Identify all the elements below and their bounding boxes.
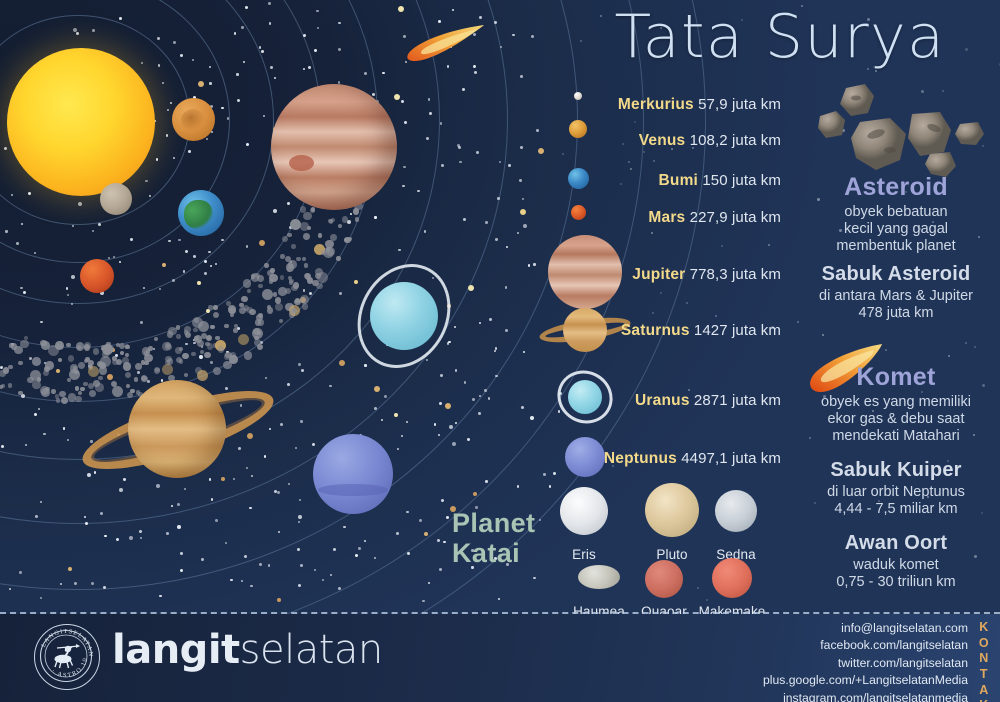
star	[210, 361, 213, 364]
section-komet: Komet obyek es yang memilikiekor gas & d…	[800, 363, 992, 445]
star	[280, 423, 283, 426]
asteroid-belt-dot	[273, 292, 278, 297]
star	[156, 484, 160, 488]
star	[159, 595, 161, 597]
star	[116, 538, 119, 541]
planet-name: Saturnus	[621, 322, 690, 339]
star	[98, 223, 101, 226]
star	[28, 192, 31, 195]
asteroid-belt-dot	[185, 332, 192, 339]
sagittarius-figure	[55, 644, 81, 668]
star	[4, 147, 7, 150]
dwarf-planet-disc-quaoar	[645, 560, 683, 598]
brand-thin: selatan	[240, 627, 383, 673]
asteroid-belt-dot	[40, 386, 49, 395]
star	[234, 32, 236, 34]
star	[455, 369, 457, 371]
asteroid-belt-dot	[233, 328, 238, 333]
planet-distance: 4497,1 juta km	[677, 450, 781, 467]
kontak-letter: K	[974, 698, 994, 702]
star	[130, 238, 133, 241]
star	[885, 349, 887, 351]
asteroid-belt-dot	[18, 391, 23, 396]
kontak-letter: T	[974, 667, 994, 683]
dwarf-planet-disc-eris	[560, 487, 608, 535]
asteroid-belt-dot	[130, 389, 135, 394]
contact-line[interactable]: instagram.com/langitselatanmedia	[763, 690, 968, 702]
star	[768, 244, 770, 246]
dwarf-planet-disc-sedna	[715, 490, 757, 532]
asteroid-belt-dot	[243, 279, 252, 288]
asteroid-belt-dot	[213, 367, 222, 376]
planet-distance: 57,9 juta km	[694, 96, 781, 113]
asteroid-belt-dot	[154, 367, 161, 374]
star	[549, 485, 551, 487]
asteroid-belt-dot	[8, 383, 13, 388]
dwarf-planet-disc-makemake	[712, 558, 752, 598]
star	[333, 548, 336, 551]
asteroid-belt-dot	[201, 333, 208, 340]
star	[519, 179, 522, 182]
asteroid-belt-dot	[197, 340, 204, 347]
star	[137, 371, 140, 374]
asteroid-belt-dot	[80, 387, 85, 392]
star	[697, 587, 699, 589]
planet-distance: 108,2 juta km	[685, 132, 781, 149]
star	[215, 263, 217, 265]
asteroid-belt-dot	[99, 366, 108, 375]
star	[517, 485, 519, 487]
planet-distance: 1427 juta km	[690, 322, 781, 339]
star	[94, 471, 96, 473]
asteroid-belt-dot	[165, 356, 172, 363]
star	[298, 363, 301, 366]
star	[298, 515, 302, 519]
asteroid-belt-dot	[93, 380, 100, 387]
asteroid-belt-dot	[269, 279, 274, 284]
asteroid-belt-dot	[59, 391, 66, 398]
asteroid-belt-dot	[168, 327, 177, 336]
star	[374, 216, 376, 218]
star	[417, 190, 419, 192]
star	[209, 478, 211, 480]
asteroid-belt-dot	[20, 340, 29, 349]
planet-distance: 778,3 juta km	[685, 266, 781, 283]
asteroid-belt-dot	[70, 364, 79, 373]
asteroid-belt-dot	[344, 238, 349, 243]
star	[259, 240, 265, 246]
star	[653, 160, 655, 162]
planet-name: Bumi	[659, 172, 699, 189]
section-sabuk-kuiper: Sabuk Kuiper di luar orbit Neptunus4,44 …	[800, 459, 992, 518]
brand-bold: langit	[112, 627, 240, 673]
star	[211, 498, 213, 500]
star	[489, 318, 492, 321]
star	[497, 197, 499, 199]
star	[156, 158, 158, 160]
star	[494, 21, 497, 24]
star	[67, 439, 69, 441]
star	[269, 428, 271, 430]
kontak-letter: K	[974, 620, 994, 636]
planet-row-bumi: Bumi 150 juta km	[659, 172, 781, 190]
star	[401, 100, 404, 103]
asteroid-belt-dot	[302, 303, 309, 310]
planet-row-merkurius: Merkurius 57,9 juta km	[618, 96, 781, 114]
awan-oort-heading: Awan Oort	[800, 532, 992, 555]
venus-illustration	[172, 98, 215, 141]
star	[74, 582, 77, 585]
star	[295, 447, 297, 449]
asteroid-belt-dot	[89, 390, 96, 397]
planet-name: Merkurius	[618, 96, 694, 113]
contact-line[interactable]: facebook.com/langitselatan	[763, 637, 968, 654]
asteroid-belt-dot	[255, 273, 260, 278]
star	[113, 256, 115, 258]
asteroid-belt-dot	[98, 376, 103, 381]
star	[660, 292, 662, 294]
asteroid-belt-dot	[208, 305, 213, 310]
neptune-illustration	[313, 434, 393, 514]
asteroid-belt-dot	[239, 303, 244, 308]
star	[422, 600, 424, 602]
star	[34, 413, 37, 416]
star	[404, 121, 407, 124]
earth-illustration	[178, 190, 224, 236]
langitselatan-logo[interactable]: LANGITSELATAN · ASTRO 101 ·	[34, 624, 100, 690]
star	[303, 289, 305, 291]
asteroid-belt-dot	[112, 386, 123, 397]
star	[797, 321, 799, 323]
star	[265, 377, 267, 379]
planet-name: Jupiter	[632, 266, 685, 283]
star	[241, 26, 244, 29]
star	[185, 250, 188, 253]
star	[145, 180, 147, 182]
asteroid-belt-dot	[239, 307, 246, 314]
star	[197, 281, 201, 285]
footer-divider	[0, 612, 1000, 614]
asteroid-belt-dot	[246, 307, 253, 314]
star	[447, 65, 449, 67]
star	[355, 554, 358, 557]
asteroid-belt-dot	[125, 344, 130, 349]
planet-name: Mars	[648, 209, 685, 226]
asteroid-belt-dot	[291, 285, 298, 292]
star	[259, 563, 262, 566]
poster-canvas: Tata Surya Merkurius 57,9 juta kmVenus 1…	[0, 0, 1000, 702]
asteroid-belt-dot	[289, 279, 294, 284]
star	[495, 375, 497, 377]
star	[965, 342, 967, 344]
star	[162, 263, 166, 267]
asteroid-belt-dot	[256, 314, 263, 321]
star	[364, 364, 366, 366]
brand-wordmark: langitselatan	[112, 630, 383, 670]
star	[143, 287, 145, 289]
uranus-scale-disc	[568, 380, 602, 414]
asteroid-belt-dot	[280, 254, 285, 259]
asteroid-belt-dot	[210, 325, 215, 330]
asteroid-body: obyek bebatuankecil yang gagalmembentuk …	[800, 204, 992, 255]
star	[440, 122, 442, 124]
star	[652, 312, 654, 314]
star	[247, 433, 253, 439]
planet-distance: 2871 juta km	[690, 392, 781, 409]
star	[634, 121, 636, 123]
planet-row-jupiter: Jupiter 778,3 juta km	[632, 266, 781, 284]
asteroid-belt-dot	[77, 345, 82, 350]
star	[299, 499, 301, 501]
star	[236, 73, 238, 75]
star	[20, 287, 22, 289]
asteroid-belt-dot	[296, 257, 301, 262]
asteroid-belt-dot	[303, 233, 310, 240]
asteroid-belt-dot	[223, 361, 232, 370]
star	[478, 412, 481, 415]
star	[303, 34, 306, 37]
star	[249, 507, 251, 509]
asteroid-belt-dot	[93, 348, 100, 355]
star	[250, 585, 252, 587]
star	[210, 265, 212, 267]
asteroid-belt-dot	[66, 343, 71, 348]
star	[424, 532, 428, 536]
asteroid-belt-dot	[75, 396, 82, 403]
star	[180, 54, 183, 57]
star	[35, 515, 38, 518]
star	[19, 571, 22, 574]
contact-list: info@langitselatan.comfacebook.com/langi…	[763, 620, 968, 702]
asteroid-belt-dot	[182, 353, 189, 360]
star	[40, 321, 42, 323]
star	[630, 168, 632, 170]
star	[822, 334, 824, 336]
asteroid-belt-dot	[162, 342, 171, 351]
star	[706, 599, 708, 601]
asteroid-belt-dot	[134, 377, 139, 382]
contact-line[interactable]: plus.google.com/+LangitselatanMedia	[763, 672, 968, 689]
asteroid-belt-dot	[213, 305, 218, 310]
star	[473, 492, 477, 496]
asteroid-belt-dot	[45, 361, 54, 370]
star	[543, 473, 546, 476]
star	[43, 433, 45, 435]
star	[441, 499, 444, 502]
asteroid-belt-dot	[9, 343, 14, 348]
star	[66, 287, 68, 289]
sun-illustration	[7, 48, 155, 196]
comet-illustration	[404, 22, 486, 62]
asteroid-belt-dot	[254, 339, 261, 346]
asteroid-belt-dot	[191, 352, 196, 357]
planet-distance: 150 juta km	[698, 172, 781, 189]
asteroid-belt-dot	[290, 219, 301, 230]
star	[498, 598, 500, 600]
asteroid-belt-dot	[68, 355, 75, 362]
star	[443, 541, 445, 543]
asteroid-belt-dot	[321, 250, 326, 255]
star	[273, 209, 277, 213]
star	[107, 374, 113, 380]
star	[948, 355, 950, 357]
star	[264, 455, 266, 457]
asteroid-belt-dot	[56, 398, 61, 403]
asteroid-belt-dot	[61, 397, 68, 404]
star	[462, 88, 465, 91]
star	[458, 146, 461, 149]
asteroid-belt-dot	[136, 390, 141, 395]
star	[300, 564, 303, 567]
asteroid-belt-dot	[304, 263, 309, 268]
mercury-scale-disc	[574, 92, 582, 100]
asteroid-belt-dot	[342, 216, 349, 223]
asteroid-belt-dot	[88, 366, 99, 377]
star	[172, 279, 175, 282]
asteroid-belt-dot	[270, 268, 275, 273]
asteroid-belt-dot	[264, 263, 269, 268]
asteroid-belt-dot	[258, 284, 263, 289]
star	[184, 488, 186, 490]
star	[192, 59, 194, 61]
planet-row-uranus: Uranus 2871 juta km	[635, 392, 781, 410]
star	[364, 72, 367, 75]
star	[520, 75, 523, 78]
star	[688, 389, 690, 391]
star	[434, 423, 436, 425]
star	[208, 251, 210, 253]
star	[5, 230, 7, 232]
star	[168, 240, 170, 242]
star	[180, 569, 183, 572]
planet-katai-line1: Planet	[452, 508, 562, 538]
asteroid-belt-dot	[291, 244, 296, 249]
star	[91, 582, 94, 585]
star	[485, 221, 487, 223]
star	[520, 146, 523, 149]
sabuk-asteroid-body: di antara Mars & Jupiter478 juta km	[800, 288, 992, 322]
sabuk-kuiper-heading: Sabuk Kuiper	[800, 459, 992, 482]
asteroid-belt-dot	[267, 307, 274, 314]
page-title: Tata Surya	[565, 6, 995, 69]
komet-body: obyek es yang memilikiekor gas & debu sa…	[800, 394, 992, 445]
star	[314, 49, 317, 52]
star	[277, 491, 280, 494]
star	[562, 153, 564, 155]
planet-name: Venus	[639, 132, 686, 149]
star	[92, 29, 94, 31]
star	[221, 239, 223, 241]
star	[536, 129, 539, 132]
asteroid-belt-dot	[51, 389, 56, 394]
star	[227, 117, 229, 119]
star	[398, 249, 400, 251]
star	[16, 242, 19, 245]
star	[209, 82, 211, 84]
star	[533, 577, 535, 579]
asteroid-belt-dot	[311, 207, 316, 212]
kontak-letter: N	[974, 651, 994, 667]
earth-scale-disc	[568, 168, 589, 189]
asteroid-cluster-illustration	[818, 82, 996, 178]
star	[447, 342, 449, 344]
asteroid-belt-dot	[305, 273, 312, 280]
asteroid-belt-dot	[146, 349, 151, 354]
star	[140, 321, 143, 324]
asteroid-belt-dot	[32, 357, 41, 366]
star	[495, 238, 498, 241]
star	[316, 10, 318, 12]
star	[403, 166, 405, 168]
planet-row-mars: Mars 227,9 juta km	[648, 209, 781, 227]
asteroid-heading: Asteroid	[800, 173, 992, 202]
star	[558, 410, 560, 412]
kontak-letter: A	[974, 683, 994, 699]
star	[90, 440, 92, 442]
jupiter-scale-disc	[548, 235, 622, 309]
section-awan-oort: Awan Oort waduk komet0,75 - 30 triliun k…	[800, 532, 992, 591]
star	[512, 34, 514, 36]
star	[533, 263, 535, 265]
star	[372, 93, 375, 96]
star	[339, 360, 345, 366]
asteroid-belt-dot	[316, 283, 323, 290]
planet-row-neptunus: Neptunus 4497,1 juta km	[604, 450, 781, 468]
contact-line[interactable]: twitter.com/langitselatan	[763, 655, 968, 672]
mars-scale-disc	[571, 205, 586, 220]
section-asteroid: Asteroid obyek bebatuankecil yang gagalm…	[800, 173, 992, 255]
star	[241, 580, 243, 582]
planet-name: Neptunus	[604, 450, 677, 467]
asteroid-belt-dot	[204, 352, 211, 359]
star	[157, 37, 160, 40]
dwarf-planet-disc-haumea	[578, 565, 620, 589]
star	[419, 519, 422, 522]
planet-name: Uranus	[635, 392, 690, 409]
star	[715, 315, 717, 317]
asteroid-belt-dot	[3, 367, 10, 374]
neptune-scale-disc	[565, 437, 605, 477]
star	[467, 438, 470, 441]
star	[183, 270, 185, 272]
saturn-scale-disc	[563, 308, 607, 352]
sabuk-asteroid-heading: Sabuk Asteroid	[800, 263, 992, 286]
star	[56, 369, 60, 373]
star	[243, 61, 245, 63]
star	[686, 302, 688, 304]
star	[505, 286, 507, 288]
star	[439, 568, 442, 571]
asteroid-belt-dot	[193, 328, 198, 333]
sabuk-kuiper-body: di luar orbit Neptunus4,44 - 7,5 miliar …	[800, 484, 992, 518]
star	[34, 252, 36, 254]
star	[268, 2, 271, 5]
venus-scale-disc	[569, 120, 587, 138]
asteroid-belt-dot	[207, 343, 214, 350]
asteroid-belt-dot	[112, 356, 117, 361]
star	[221, 477, 225, 481]
contact-line[interactable]: info@langitselatan.com	[763, 620, 968, 637]
star	[474, 71, 477, 74]
star	[104, 535, 106, 537]
asteroid-belt-dot	[330, 234, 337, 241]
star	[445, 403, 451, 409]
asteroid-belt-dot	[55, 341, 64, 350]
awan-oort-body: waduk komet0,75 - 30 triliun km	[800, 557, 992, 591]
star	[221, 107, 223, 109]
star	[974, 346, 976, 348]
star	[78, 202, 82, 206]
